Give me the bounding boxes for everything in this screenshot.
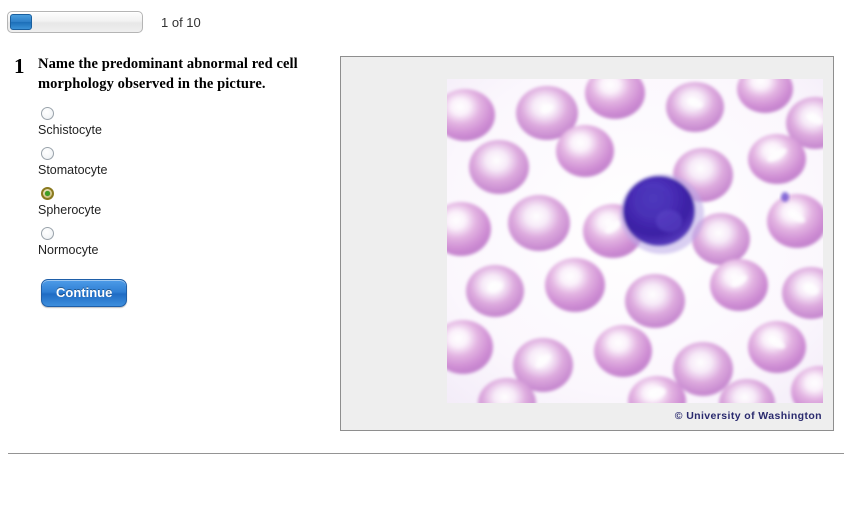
option-schistocyte[interactable]: Schistocyte bbox=[38, 107, 324, 137]
option-label-spherocyte[interactable]: Spherocyte bbox=[38, 203, 324, 217]
progress-header: 1 of 10 bbox=[7, 9, 201, 35]
blood-smear-image bbox=[447, 79, 823, 403]
radio-schistocyte[interactable] bbox=[41, 107, 54, 120]
question-block: 1 Name the predominant abnormal red cell… bbox=[14, 55, 324, 307]
bottom-divider bbox=[8, 453, 844, 454]
question-row: 1 Name the predominant abnormal red cell… bbox=[14, 55, 324, 94]
radio-spherocyte[interactable] bbox=[41, 187, 54, 200]
progress-label: 1 of 10 bbox=[161, 15, 201, 30]
radio-stomatocyte[interactable] bbox=[41, 147, 54, 160]
option-stomatocyte[interactable]: Stomatocyte bbox=[38, 147, 324, 177]
copyright-watermark: © University of Washington bbox=[675, 410, 822, 422]
option-normocyte[interactable]: Normocyte bbox=[38, 227, 324, 257]
image-panel: © University of Washington bbox=[340, 56, 834, 431]
option-label-schistocyte[interactable]: Schistocyte bbox=[38, 123, 324, 137]
continue-button[interactable]: Continue bbox=[41, 279, 127, 307]
progress-bar bbox=[7, 11, 143, 33]
question-text: Name the predominant abnormal red cell m… bbox=[38, 55, 308, 94]
radio-normocyte[interactable] bbox=[41, 227, 54, 240]
option-spherocyte[interactable]: Spherocyte bbox=[38, 187, 324, 217]
answer-options: Schistocyte Stomatocyte Spherocyte Normo… bbox=[38, 107, 324, 257]
option-label-stomatocyte[interactable]: Stomatocyte bbox=[38, 163, 324, 177]
progress-bar-fill bbox=[10, 14, 32, 30]
question-number: 1 bbox=[14, 55, 38, 77]
option-label-normocyte[interactable]: Normocyte bbox=[38, 243, 324, 257]
